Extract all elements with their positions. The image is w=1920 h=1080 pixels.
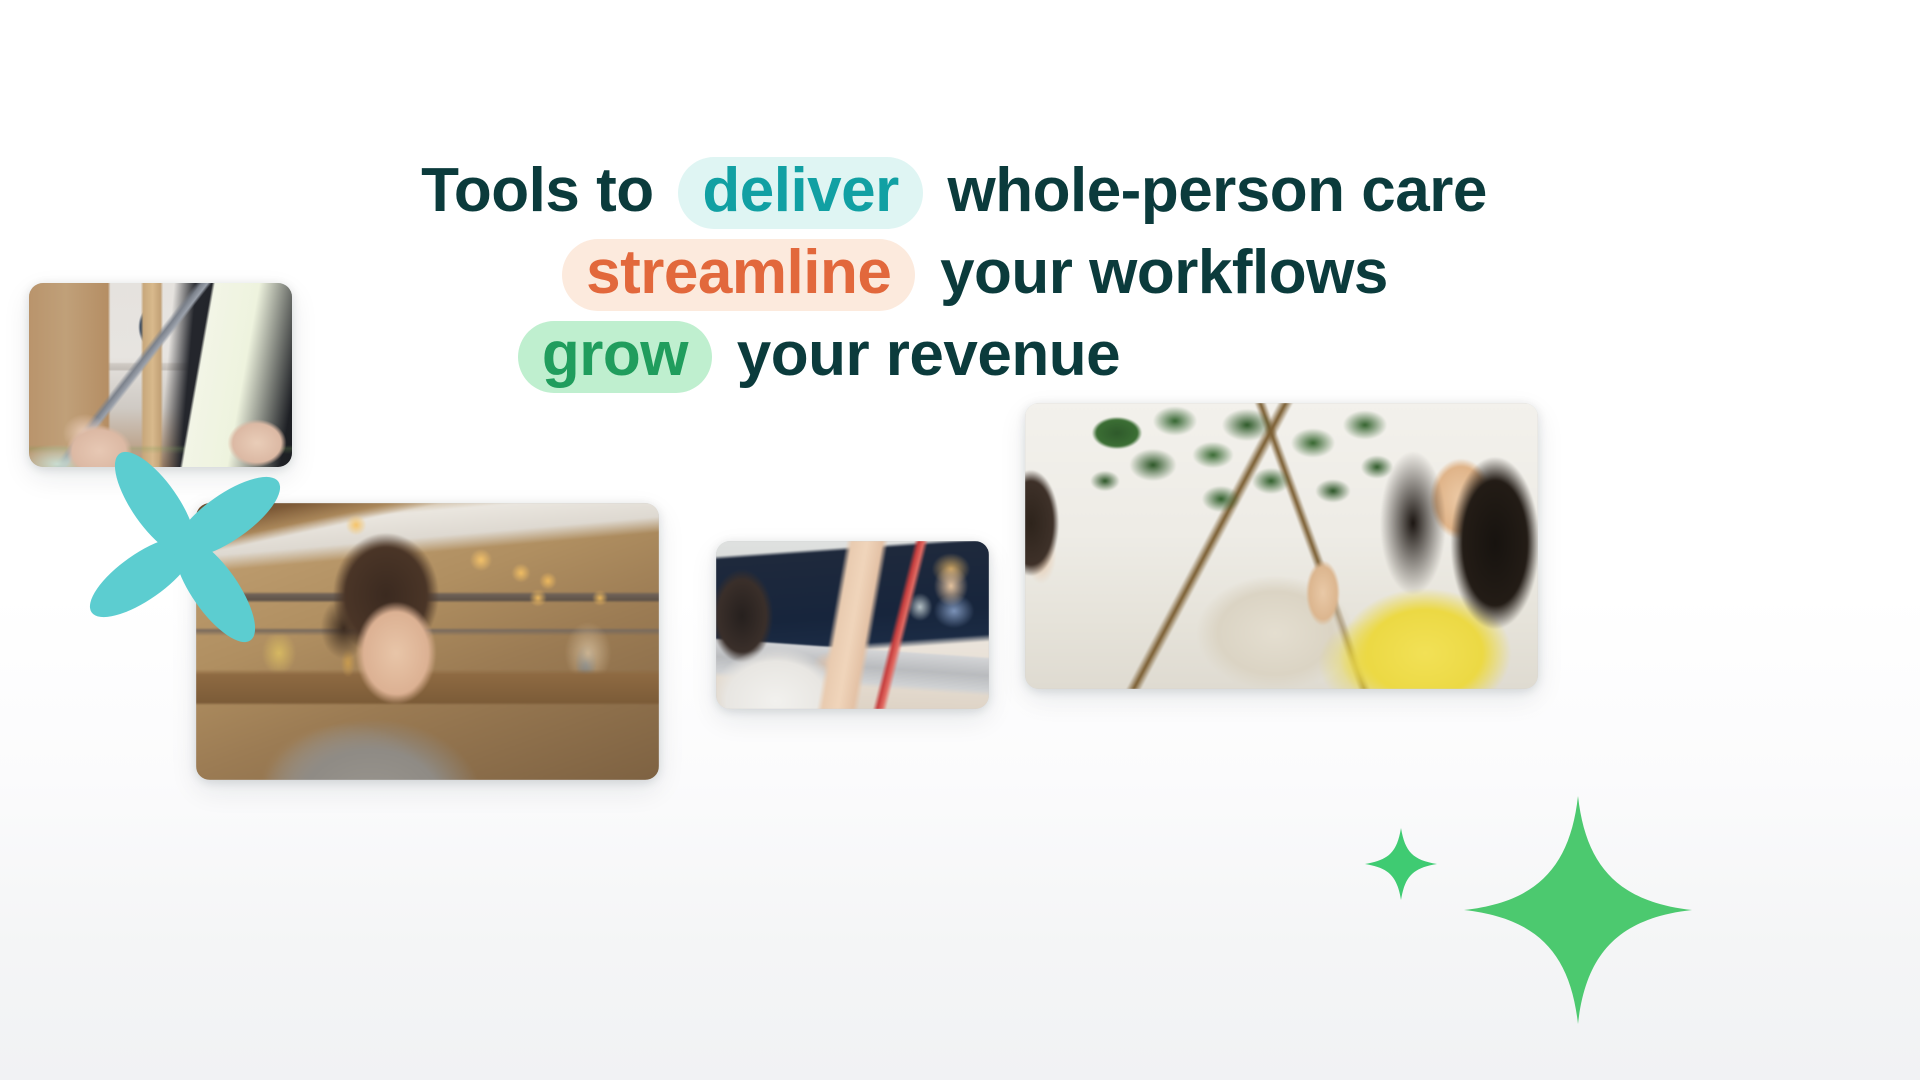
photo-telehealth-video-call-image <box>716 541 989 709</box>
headline-suffix-3: your revenue <box>737 320 1120 389</box>
photo-telehealth-video-call <box>716 541 989 709</box>
headline-line-streamline: streamline your workflows <box>22 232 1920 314</box>
headline-suffix-2: your workflows <box>940 238 1388 307</box>
photo-therapy-session <box>1025 403 1538 689</box>
green-sparkle-large-icon <box>1458 790 1698 1030</box>
headline-suffix-1: whole-person care <box>948 156 1487 225</box>
highlight-pill-streamline: streamline <box>562 239 915 311</box>
photo-therapy-session-image <box>1025 403 1538 689</box>
turquoise-flower-icon <box>100 462 270 632</box>
headline-prefix-1: Tools to <box>421 156 653 225</box>
highlight-pill-grow: grow <box>518 321 712 393</box>
highlight-pill-deliver: deliver <box>678 157 922 229</box>
green-sparkle-small-icon <box>1362 825 1440 903</box>
headline-line-deliver: Tools to deliver whole-person care <box>0 150 1920 232</box>
photo-clinician-taking-notes-image <box>29 283 292 467</box>
hero-section: Tools to deliver whole-person care strea… <box>0 0 1920 1080</box>
photo-clinician-taking-notes <box>29 283 292 467</box>
